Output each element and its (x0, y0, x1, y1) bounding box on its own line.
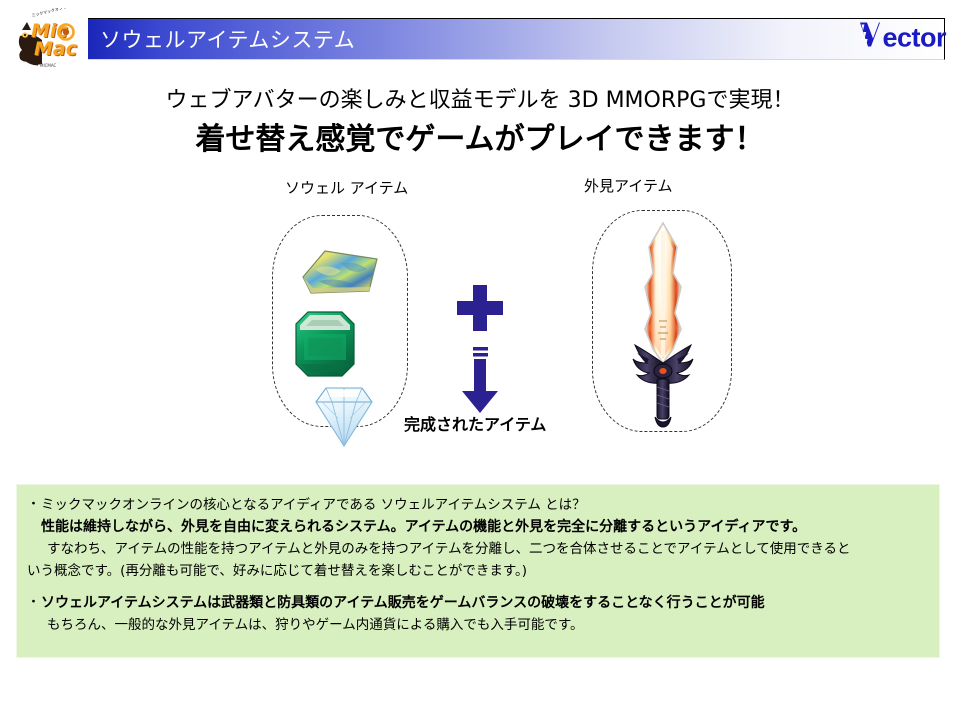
description-panel: ・ ミックマックオンラインの核心となるアイディアである ソウェルアイテムシステム… (16, 484, 940, 658)
diamond-gem-icon (308, 380, 380, 450)
completed-item-label: 完成されたアイテム (404, 411, 546, 435)
headline-primary: ウェブアバターの楽しみと収益モデルを 3D MMORPGで実現！ (0, 82, 960, 114)
appearance-item-label: 外見アイテム (584, 175, 673, 196)
vector-logo-icon: ector (859, 21, 946, 54)
opal-gem-icon (297, 247, 381, 299)
svg-text:Mac: Mac (34, 38, 78, 60)
item-system-diagram: ソウェル アイテム 外見アイテム (0, 165, 960, 475)
plus-icon (455, 283, 505, 333)
soul-item-label: ソウェル アイテム (285, 177, 408, 198)
down-arrow-icon (455, 347, 505, 415)
flaming-sword-icon (619, 221, 707, 429)
description-line: もちろん、一般的な外見アイテムは、狩りやゲーム内通貨による購入でも入手可能です。 (27, 614, 929, 636)
bullet-marker: ・ (27, 494, 41, 516)
emerald-gem-icon (294, 310, 356, 378)
svg-text:MICMAC: MICMAC (40, 63, 57, 68)
svg-text:ミックマックオンライン: ミックマックオンライン (31, 8, 75, 18)
page-header: ミックマックオンライン Mic Mic Mac Mac MICMAC ソウェルア… (0, 0, 960, 75)
title-bar: ソウェルアイテムシステム (88, 18, 945, 60)
vector-logo-mark (859, 21, 881, 54)
page-title: ソウェルアイテムシステム (100, 24, 355, 54)
description-bullet-2: ・ ソウェルアイテムシステムは武器類と防具類のアイテム販売をゲームバランスの破壊… (27, 592, 929, 636)
bullet-marker: ・ (27, 592, 41, 614)
description-line: 性能は維持しながら、外見を自由に変えられるシステム。アイテムの機能と外見を完全に… (41, 516, 929, 538)
description-line: ソウェルアイテムシステムは武器類と防具類のアイテム販売をゲームバランスの破壊をす… (41, 592, 929, 614)
description-line: すなわち、アイテムの性能を持つアイテムと外見のみを持つアイテムを分離し、二つを合… (27, 538, 929, 560)
micmac-logo-icon: ミックマックオンライン Mic Mic Mac Mac MICMAC (14, 8, 86, 70)
vector-logo-text: ector (882, 22, 946, 53)
description-bullet-1: ・ ミックマックオンラインの核心となるアイディアである ソウェルアイテムシステム… (27, 494, 929, 582)
headline-secondary: 着せ替え感覚でゲームがプレイできます！ (0, 114, 960, 158)
description-line: ミックマックオンラインの核心となるアイディアである ソウェルアイテムシステム と… (41, 494, 929, 516)
description-line: いう概念です。(再分離も可能で、好みに応じて着せ替えを楽しむことができます。) (27, 560, 929, 582)
